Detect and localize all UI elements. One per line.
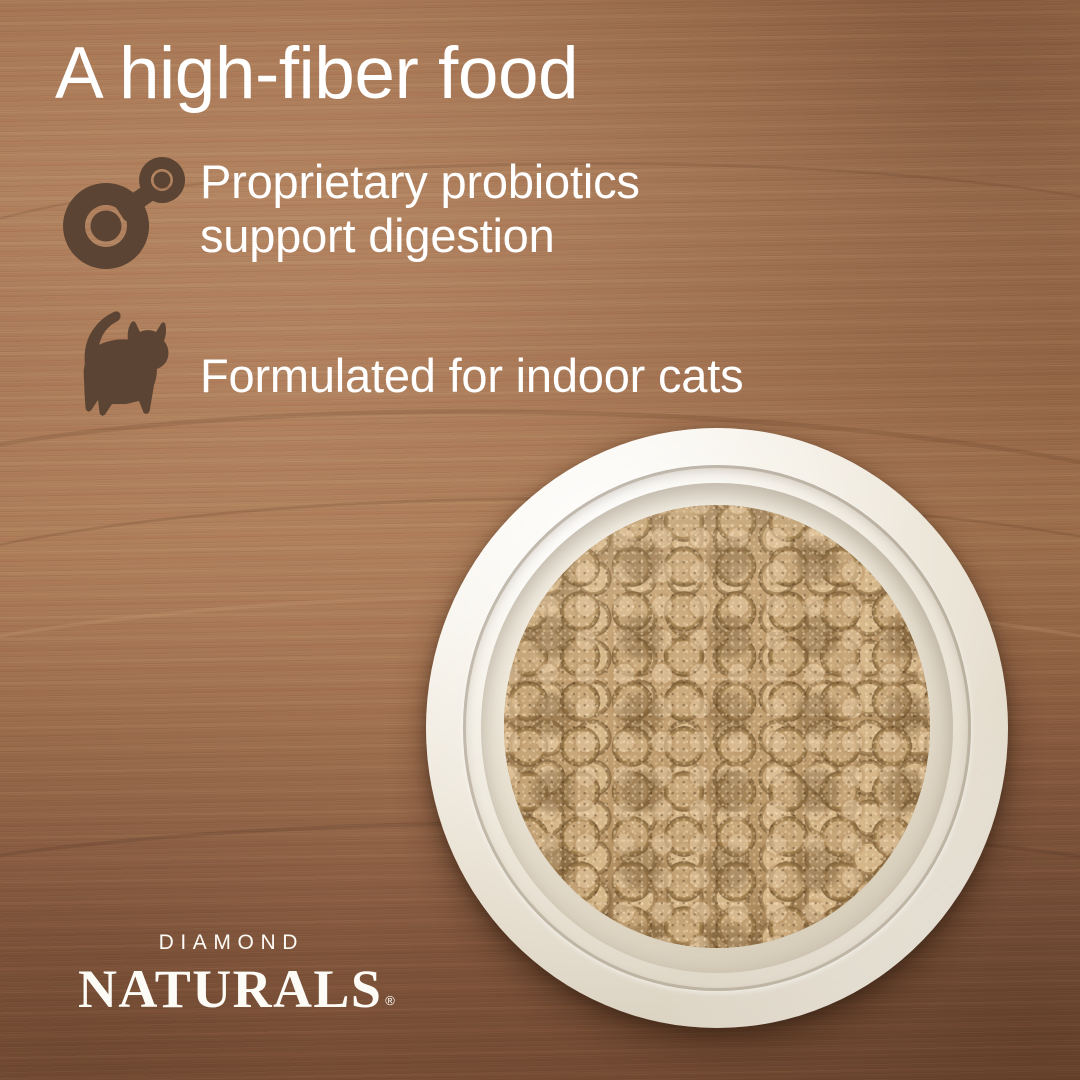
feature-item-indoor-cats: Formulated for indoor cats — [52, 301, 972, 421]
probiotic-cells-icon — [52, 149, 192, 279]
marketing-image-canvas: A high-fiber food — [0, 0, 1080, 1080]
brand-logo-naturals: NATURALS® — [78, 962, 378, 1016]
brand-logo-diamond: DIAMOND — [78, 932, 378, 953]
cat-silhouette-icon — [54, 305, 184, 427]
feature-label-line1: Proprietary probiotics — [200, 155, 640, 209]
feature-item-probiotics: Proprietary probiotics support digestion — [52, 143, 972, 301]
kibble-shading — [504, 505, 930, 948]
feature-label-probiotics: Proprietary probiotics support digestion — [200, 155, 640, 262]
kibble-fill — [504, 505, 930, 948]
pet-food-bowl — [426, 428, 1008, 1028]
feature-label-line2: support digestion — [200, 209, 640, 263]
registered-trademark-mark: ® — [385, 993, 395, 1008]
page-title: A high-fiber food — [55, 37, 578, 110]
brand-logo: DIAMOND NATURALS® — [78, 932, 378, 1016]
brand-logo-naturals-text: NATURALS — [78, 959, 382, 1019]
feature-label-indoor-cats: Formulated for indoor cats — [200, 349, 743, 403]
feature-list: Proprietary probiotics support digestion — [52, 143, 972, 421]
